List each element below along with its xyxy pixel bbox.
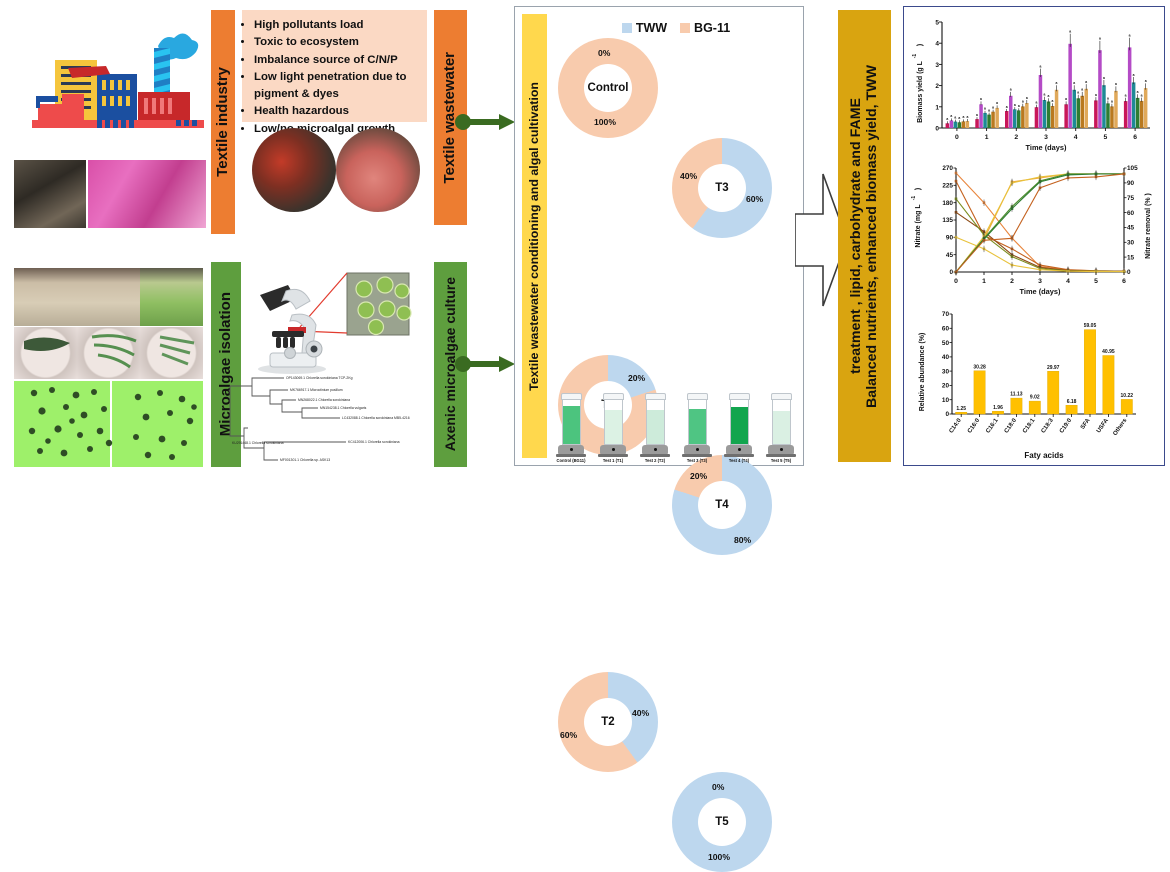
svg-text:a: a [1056,81,1058,85]
legend-label-bg11: BG-11 [694,21,730,35]
graphical-abstract: Textile industry High pollutants load To… [0,0,1170,472]
flask-t5: Test 5 (T5) [766,398,796,464]
flask-control: Control (BG11) [556,398,586,464]
donut-control: Control 0% 100% [558,38,658,138]
wastewater-discharge-photo [252,128,336,212]
svg-text:0: 0 [1127,269,1131,276]
svg-text:a: a [1018,104,1020,108]
culture-liquid [605,410,622,443]
legend-item-bg11: BG-11 [680,21,730,35]
svg-text:5: 5 [1104,134,1108,141]
svg-text:a: a [1065,97,1067,101]
svg-text:29.97: 29.97 [1047,365,1060,371]
flask-label: Test 1 (T1) [598,458,628,463]
svg-text:4: 4 [1074,134,1078,141]
svg-text:30: 30 [1127,240,1135,247]
svg-text:0: 0 [955,134,959,141]
svg-text:Nitrate (mg L: Nitrate (mg L [915,204,922,248]
svg-text:a: a [1107,96,1109,100]
donut-legend: TWW BG-11 [560,20,792,36]
svg-text:a: a [1014,103,1016,107]
svg-text:60: 60 [942,326,950,333]
svg-text:2: 2 [1014,134,1018,141]
industry-photo-dyeing-mill [88,160,206,228]
svg-text:a: a [1145,79,1147,83]
svg-text:a: a [950,114,952,118]
tree-tip-label: MK766917.1 Microctinium pusillum [290,388,343,392]
svg-text:a: a [1095,93,1097,97]
list-item: High pollutants load [254,17,419,33]
donut-t3: T3 60% 40% [672,138,772,238]
list-item: Low light penetration due to pigment & d… [254,69,419,102]
svg-text:105: 105 [1127,165,1138,172]
flask-label: Test 3 (T3) [682,458,712,463]
svg-text:C19:0: C19:0 [1059,417,1074,434]
donut-tww-percent: 60% [746,194,763,204]
flask-t3: Test 3 (T3) [682,398,712,464]
svg-text:a: a [1081,88,1083,92]
flask-t4: Test 4 (T4) [724,398,754,464]
donut-t4: T4 80% 20% [672,455,772,555]
issues-list: High pollutants load Toxic to ecosystem … [242,10,427,144]
svg-text:1: 1 [935,104,939,111]
svg-text:a: a [966,115,968,119]
svg-text:1: 1 [982,278,986,285]
svg-text:0: 0 [945,411,949,418]
svg-text:a: a [1069,30,1071,34]
svg-text:40.95: 40.95 [1102,349,1115,355]
svg-text:45: 45 [946,252,954,259]
svg-text:2: 2 [1010,278,1014,285]
flask-label: Control (BG11) [556,458,586,463]
svg-text:): ) [915,188,922,190]
svg-text:270: 270 [942,165,953,172]
svg-text:5: 5 [1094,278,1098,285]
svg-text:Others: Others [1112,417,1128,437]
outcomes-line2: treatment , lipid, carbohydrate and FAME [849,98,865,374]
svg-text:a: a [1052,99,1054,103]
graduated-cylinder [772,398,791,445]
culture-liquid [689,409,706,443]
donut-t5: T5 0% 100% [672,772,772,872]
donut-t2: T2 40% 60% [558,672,658,772]
culture-liquid [647,410,664,443]
svg-text:180: 180 [942,200,953,207]
tree-tip-label: MN268022.1 Chlorella sorokiniana [298,398,350,402]
petri-dish-photo-1 [14,327,77,379]
svg-text:1: 1 [985,134,989,141]
svg-text:a: a [958,116,960,120]
svg-text:3: 3 [1038,278,1042,285]
svg-text:45: 45 [1127,225,1135,232]
graduated-cylinder [646,398,665,445]
svg-text:1.25: 1.25 [956,406,966,412]
svg-text:C18:0: C18:0 [1004,417,1019,434]
microscope-illustration [252,265,422,377]
svg-text:2: 2 [935,83,939,90]
svg-text:135: 135 [942,217,953,224]
svg-text:0: 0 [954,278,958,285]
svg-text:6: 6 [1122,278,1126,285]
svg-text:SFA: SFA [1080,417,1092,431]
svg-text:3: 3 [1044,134,1048,141]
donut-bg11-percent: 100% [594,117,616,127]
stirrer-plate [726,445,752,454]
svg-text:90: 90 [946,235,954,242]
chart-biomass-yield: Biomass yield (g L -1 ) 012 345 aaaaaaaa… [910,12,1158,152]
stirrer-plate [600,445,626,454]
svg-text:9.02: 9.02 [1030,395,1040,401]
donut-bg11-percent: 60% [560,730,577,740]
culture-bottle-photo-3 [140,268,203,326]
svg-text:15: 15 [1127,254,1135,261]
chart-nitrate-removal: Nitrate (mg L -1 ) Nitrate removal (% ) … [910,160,1158,300]
svg-text:-1: -1 [912,54,918,59]
petri-dish-photo-2 [77,327,140,379]
svg-text:Faty acids: Faty acids [1024,451,1064,460]
svg-text:a: a [1099,37,1101,41]
conditioning-bar: Textile wastewater conditioning and alga… [522,14,547,458]
svg-text:a: a [954,115,956,119]
flask-label: Test 5 (T5) [766,458,796,463]
donut-tww-percent: 40% [632,708,649,718]
svg-text:11.13: 11.13 [1010,392,1022,398]
legend-item-tww: TWW [622,21,667,35]
svg-text:90: 90 [1127,180,1135,187]
svg-text:USFA: USFA [1096,417,1110,434]
svg-text:4: 4 [935,41,939,48]
donut-center-label: T2 [584,698,632,746]
svg-text:a: a [996,101,998,105]
svg-text:a: a [1115,82,1117,86]
svg-text:a: a [1026,96,1028,100]
svg-text:3: 3 [935,62,939,69]
donut-bg11-percent: 40% [680,171,697,181]
svg-text:1.96: 1.96 [993,405,1003,411]
tree-tip-label: MF001301.1 Chlorella sp. ASK13 [280,458,330,462]
svg-text:0: 0 [935,126,939,133]
svg-text:a: a [984,107,986,111]
svg-text:a: a [1073,81,1075,85]
svg-text:30: 30 [942,368,950,375]
donut-center-label: Control [584,64,632,112]
svg-text:a: a [1048,94,1050,98]
svg-text:4: 4 [1066,278,1070,285]
svg-text:a: a [1035,101,1037,105]
svg-text:a: a [976,113,978,117]
donut-tww-percent: 0% [598,48,610,58]
svg-text:C18:1: C18:1 [1022,417,1037,434]
svg-text:a: a [1085,80,1087,84]
svg-text:40: 40 [942,354,950,361]
svg-text:5: 5 [935,20,939,27]
svg-text:): ) [917,44,924,46]
donut-center-label: T4 [698,481,746,529]
svg-text:C14:0: C14:0 [949,417,964,434]
microscopy-cells-overlay [14,381,203,467]
stirrer-plate [558,445,584,454]
svg-text:Nitrate removal (% ): Nitrate removal (% ) [1145,193,1152,259]
svg-text:a: a [1077,91,1079,95]
petri-dish-photo-3 [140,327,203,379]
graduated-cylinder [604,398,623,445]
flask-t1: Test 1 (T1) [598,398,628,464]
legend-swatch-tww [622,23,632,33]
donut-tww-percent: 20% [628,373,645,383]
textile-industry-illustration [8,8,208,158]
outcomes-line1: Balanced nutrients, enhanced biomass yie… [865,65,881,408]
graduated-cylinder [730,398,749,445]
donut-tww-percent: 80% [734,535,751,545]
svg-text:a: a [1125,94,1127,98]
chart-fatty-acids: Relative abundance (%) 010203040506070 1… [910,306,1158,462]
svg-text:a: a [1010,88,1012,92]
svg-text:Biomass yield (g L: Biomass yield (g L [917,60,924,123]
svg-text:-1: -1 [911,196,917,201]
svg-text:a: a [1044,93,1046,97]
tree-tip-label: OP143069.1 Chlorella sorokiniana TCP-2Kg [286,376,353,380]
flask-label: Test 4 (T4) [724,458,754,463]
graduated-cylinder [688,398,707,445]
cultivation-flasks-row: Control (BG11) Test 1 (T1) Test 2 (T2) T… [556,385,796,463]
svg-text:a: a [988,108,990,112]
arrow-to-cultivation-top [455,110,517,134]
stirrer-plate [768,445,794,454]
svg-text:60: 60 [1127,210,1135,217]
donut-center-label: T3 [698,164,746,212]
svg-text:70: 70 [942,311,950,318]
list-item: Health hazardous [254,103,419,119]
svg-text:a: a [1137,90,1139,94]
svg-text:C16:1: C16:1 [985,417,1000,434]
tree-tip-label: KC412006.1 Chlorella sorokiniana [348,440,400,444]
svg-text:a: a [962,115,964,119]
textile-wastewater-issues-box: High pollutants load Toxic to ecosystem … [242,10,427,122]
outcomes-bar: treatment , lipid, carbohydrate and FAME… [838,10,891,462]
graduated-cylinder [562,398,581,445]
svg-text:30.28: 30.28 [973,364,986,370]
stirrer-plate [642,445,668,454]
wastewater-lagoon-photo [336,128,420,212]
svg-text:a: a [1111,100,1113,104]
legend-swatch-bg11 [680,23,690,33]
donut-bg11-percent: 0% [712,782,724,792]
industry-photo-effluent [14,160,86,228]
svg-text:a: a [1103,76,1105,80]
flask-t2: Test 2 (T2) [640,398,670,464]
culture-liquid [731,407,748,444]
svg-text:a: a [1040,64,1042,68]
textile-industry-bar: Textile industry [211,10,235,234]
tree-tip-label: LC432088.1 Chlorella sorokiniana MB5-421… [342,416,410,420]
svg-text:225: 225 [942,183,953,190]
tree-tip-label: KU291448.1 Chlorella sorokiniana [232,441,284,445]
flask-label: Test 2 (T2) [640,458,670,463]
arrow-to-cultivation-bottom [455,352,517,376]
svg-text:10.22: 10.22 [1121,393,1134,399]
culture-bottle-photo-1 [14,268,77,326]
svg-text:6: 6 [1133,134,1137,141]
conditioning-label: Textile wastewater conditioning and alga… [528,82,542,391]
stirrer-plate [684,445,710,454]
culture-bottle-photo-2 [77,268,140,326]
svg-text:a: a [1133,73,1135,77]
svg-text:a: a [1141,93,1143,97]
phylogenetic-tree: OP143069.1 Chlorella sorokiniana TCP-2Kg… [222,374,422,470]
tree-tip-label: MN154238.1 Chlorella vulgaris [320,406,367,410]
svg-text:75: 75 [1127,195,1135,202]
svg-text:59.05: 59.05 [1084,323,1097,329]
svg-text:C18:3: C18:3 [1041,417,1056,434]
donut-bg11-percent: 20% [690,471,707,481]
culture-liquid [563,406,580,444]
svg-text:0: 0 [949,269,953,276]
donut-center-label: T5 [698,798,746,846]
list-item: Imbalance source of C/N/P [254,52,419,68]
svg-text:a: a [992,106,994,110]
svg-text:a: a [946,117,948,121]
svg-text:a: a [1129,34,1131,38]
svg-text:a: a [1006,105,1008,109]
svg-text:Relative abundance (%): Relative abundance (%) [919,333,926,412]
svg-text:20: 20 [942,383,950,390]
svg-text:50: 50 [942,340,950,347]
list-item: Toxic to ecosystem [254,34,419,50]
culture-liquid [773,411,790,443]
svg-text:Time (days): Time (days) [1026,143,1067,152]
svg-text:Time (days): Time (days) [1020,287,1061,296]
svg-text:10: 10 [942,397,950,404]
textile-industry-label: Textile industry [215,67,232,177]
svg-text:6.18: 6.18 [1067,399,1077,405]
svg-text:C16:0: C16:0 [967,417,982,434]
svg-text:a: a [980,97,982,101]
donut-tww-percent: 100% [708,852,730,862]
svg-text:a: a [1022,100,1024,104]
legend-label-tww: TWW [636,21,667,35]
